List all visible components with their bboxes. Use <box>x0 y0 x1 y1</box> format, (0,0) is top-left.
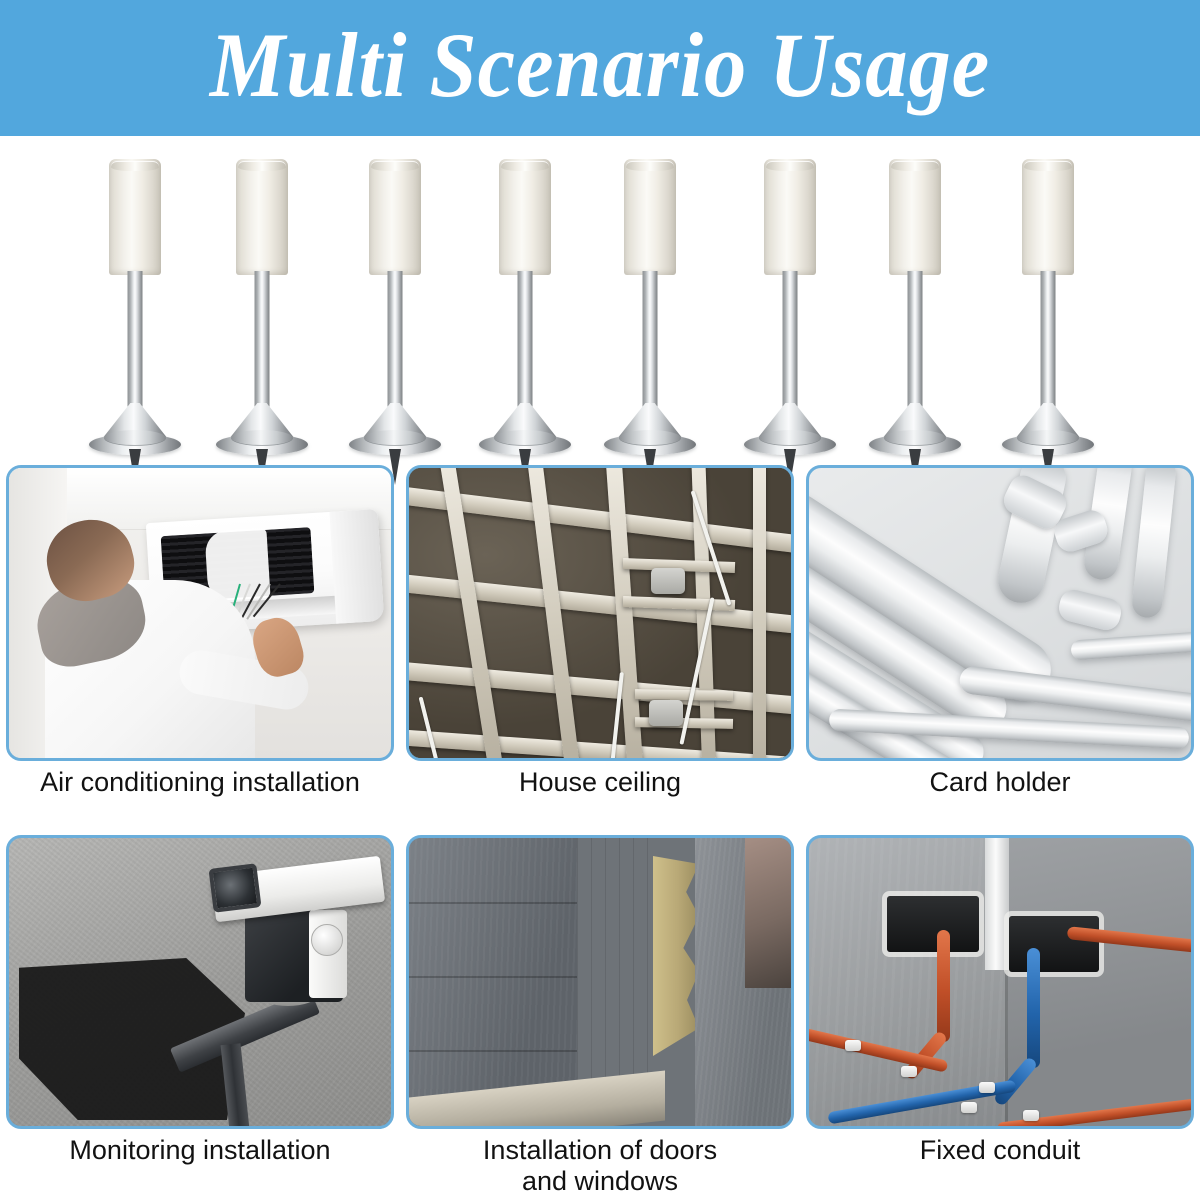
cold-water-pipe <box>1027 948 1040 1068</box>
scenario-card-house-ceiling[interactable]: House ceiling <box>400 461 800 829</box>
photo-house-ceiling <box>406 465 794 761</box>
expanding-foam <box>653 856 699 1056</box>
scenario-grid: Air conditioning installation <box>0 461 1200 1200</box>
product-anchor-pin <box>590 153 710 453</box>
product-anchor-pin <box>335 153 455 453</box>
scenario-card-fixed-conduit[interactable]: Fixed conduit <box>800 829 1200 1200</box>
photo-air-conditioning-installation <box>6 465 394 761</box>
product-anchor-pin <box>730 153 850 453</box>
junction-box <box>649 700 683 726</box>
anchor-flange-ring <box>104 430 166 446</box>
product-infographic: Multi Scenario Usage <box>0 0 1200 1200</box>
page-title: Multi Scenario Usage <box>210 19 990 117</box>
anchor-head <box>236 159 288 275</box>
exposed-brick <box>745 838 791 988</box>
anchor-flange-ring <box>884 430 946 446</box>
anchor-flange-ring <box>759 430 821 446</box>
product-anchor-pin <box>202 153 322 453</box>
anchor-head <box>369 159 421 275</box>
pipe-clip <box>961 1102 977 1113</box>
window-frame <box>577 838 653 1084</box>
caption-house-ceiling: House ceiling <box>400 767 800 798</box>
pipe-elbow <box>1056 587 1124 633</box>
caption-installation-of-doors-and-windows: Installation of doors and windows <box>400 1135 800 1197</box>
anchor-head <box>499 159 551 275</box>
hot-water-pipe <box>937 930 950 1042</box>
wall-junction-box <box>1009 916 1099 972</box>
anchor-shaft <box>783 271 798 409</box>
scenario-card-card-holder[interactable]: Card holder <box>800 461 1200 829</box>
scenario-card-monitoring-installation[interactable]: Monitoring installation <box>0 829 400 1200</box>
pvc-pipe <box>1070 631 1194 660</box>
caption-monitoring-installation: Monitoring installation <box>0 1135 400 1166</box>
product-anchor-pin <box>855 153 975 453</box>
ac-side-cover <box>329 509 384 624</box>
pipe-clip <box>901 1066 917 1077</box>
pipe-clip <box>979 1082 995 1093</box>
anchor-head <box>109 159 161 275</box>
pipe-clip <box>845 1040 861 1051</box>
photo-card-holder <box>806 465 1194 761</box>
photo-monitoring-installation <box>6 835 394 1129</box>
caption-fixed-conduit: Fixed conduit <box>800 1135 1200 1166</box>
anchor-shaft <box>388 271 403 409</box>
header-banner: Multi Scenario Usage <box>0 0 1200 136</box>
pipe-clip <box>1023 1110 1039 1121</box>
anchor-shaft <box>908 271 923 409</box>
ceiling-rafter <box>753 465 766 761</box>
anchor-flange-ring <box>364 430 426 446</box>
anchor-flange-ring <box>231 430 293 446</box>
wall-junction-box <box>887 896 979 952</box>
anchor-shaft <box>518 271 533 409</box>
ceiling-crossbar <box>635 689 733 701</box>
anchor-head <box>1022 159 1074 275</box>
anchor-head <box>764 159 816 275</box>
anchor-shaft <box>128 271 143 409</box>
pvc-pipe <box>1131 465 1178 619</box>
anchor-shaft <box>1041 271 1056 409</box>
product-showcase-row <box>0 136 1200 461</box>
anchor-head <box>624 159 676 275</box>
anchor-flange-ring <box>619 430 681 446</box>
photo-installation-of-doors-and-windows <box>406 835 794 1129</box>
caption-card-holder: Card holder <box>800 767 1200 798</box>
scenario-card-air-conditioning-installation[interactable]: Air conditioning installation <box>0 461 400 829</box>
white-conduit-pipe <box>985 838 1009 970</box>
anchor-flange-ring <box>494 430 556 446</box>
scenario-card-installation-of-doors-and-windows[interactable]: Installation of doors and windows <box>400 829 800 1200</box>
anchor-shaft <box>255 271 270 409</box>
camera-adjust-knob <box>311 924 343 956</box>
junction-box <box>651 568 685 594</box>
camera-lens <box>208 863 261 913</box>
anchor-head <box>889 159 941 275</box>
photo-fixed-conduit <box>806 835 1194 1129</box>
product-anchor-pin <box>75 153 195 453</box>
anchor-shaft <box>643 271 658 409</box>
anchor-flange-ring <box>1017 430 1079 446</box>
product-anchor-pin <box>465 153 585 453</box>
product-anchor-pin <box>988 153 1108 453</box>
caption-air-conditioning-installation: Air conditioning installation <box>0 767 400 798</box>
